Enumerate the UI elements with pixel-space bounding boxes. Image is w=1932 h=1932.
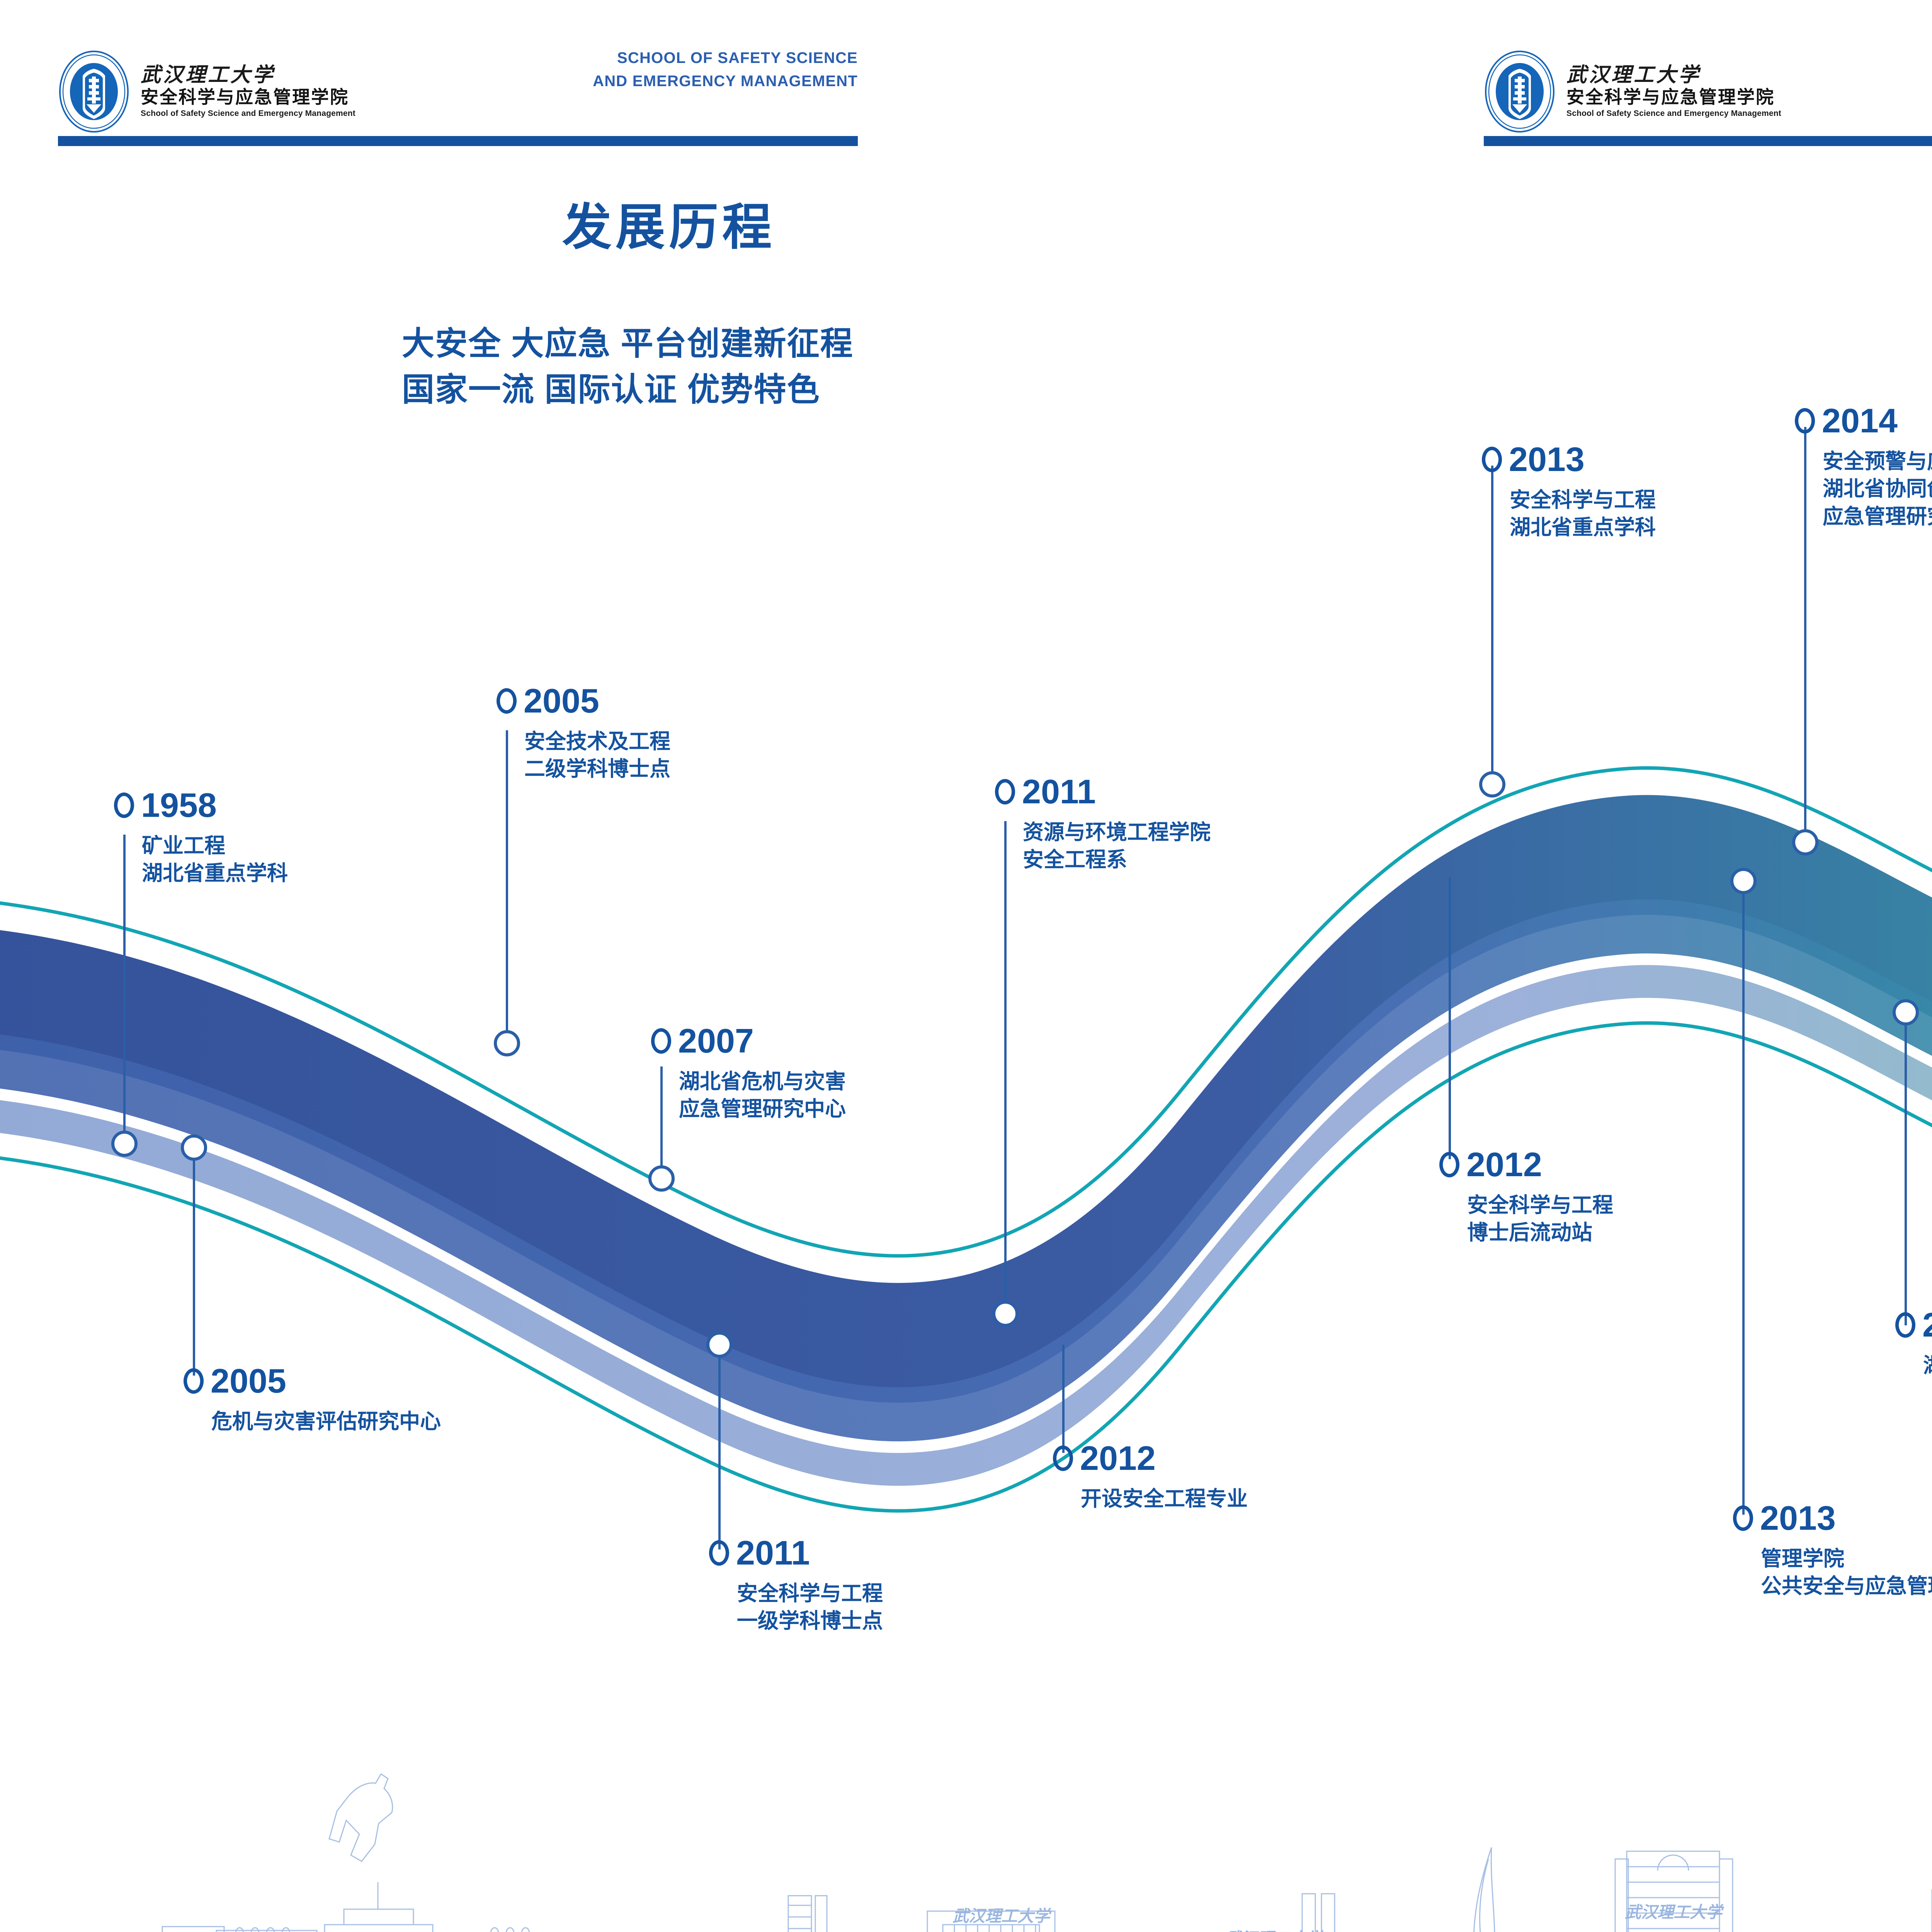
timeline-marker-icon bbox=[184, 1368, 204, 1394]
school-name-en-right: School of Safety Science and Emergency M… bbox=[1566, 109, 1781, 118]
timeline-desc-line: 开设安全工程专业 bbox=[1081, 1485, 1248, 1513]
timeline-year: 2014 bbox=[1822, 404, 1898, 438]
subtitle-line-2: 国家一流 国际认证 优势特色 bbox=[402, 367, 854, 413]
timeline-desc-line: 矿业工程 bbox=[142, 832, 288, 860]
timeline-year: 2012 bbox=[1080, 1441, 1156, 1475]
page-subtitle: 大安全 大应急 平台创建新征程 国家一流 国际认证 优势特色 bbox=[402, 321, 854, 413]
school-seal-icon-right bbox=[1484, 50, 1556, 133]
timeline-marker-icon bbox=[114, 793, 134, 818]
timeline-desc-line: 安全技术及工程 bbox=[524, 728, 670, 755]
header-rule-left bbox=[58, 136, 858, 146]
logo-block-right: 武汉理工大学 安全科学与应急管理学院 School of Safety Scie… bbox=[1484, 50, 1781, 133]
timeline-item-2011-resources-school[interactable]: 2011 资源与环境工程学院 安全工程系 bbox=[995, 775, 1211, 874]
timeline-item-1958-mining[interactable]: 1958 矿业工程 湖北省重点学科 bbox=[114, 788, 288, 888]
timeline-year: 2011 bbox=[736, 1536, 810, 1570]
timeline-desc-line: 安全工程系 bbox=[1023, 846, 1211, 874]
timeline-marker-icon bbox=[1439, 1152, 1459, 1177]
skyline-caption-a: 武汉理工大学 bbox=[952, 1907, 1052, 1925]
page-title: 发展历程 bbox=[562, 203, 776, 252]
timeline-marker-icon bbox=[709, 1540, 729, 1566]
timeline-item-2014-collab-center[interactable]: 2014 安全预警与应急联动技术 湖北省协同创新中心、中国 应急管理研究中心 bbox=[1795, 404, 1932, 531]
timeline-desc-line: 安全科学与工程 bbox=[737, 1580, 883, 1607]
timeline-marker-icon bbox=[651, 1028, 671, 1054]
timeline-desc-line: 应急管理研究中心 bbox=[679, 1095, 846, 1123]
timeline-desc-line: 湖北省重点学科 bbox=[142, 860, 288, 887]
timeline-desc-line: 管理学院 bbox=[1761, 1545, 1932, 1573]
timeline-marker-icon bbox=[1895, 1312, 1915, 1338]
timeline-desc-line: 安全科学与工程 bbox=[1467, 1192, 1613, 1219]
timeline-year: 2013 bbox=[1509, 442, 1585, 476]
timeline-marker-icon bbox=[497, 688, 517, 714]
header-left: 武汉理工大学 安全科学与应急管理学院 School of Safety Scie… bbox=[58, 0, 858, 166]
university-name-cn: 武汉理工大学 bbox=[141, 65, 355, 85]
timeline-year: 2005 bbox=[211, 1364, 286, 1398]
header-right: 武汉理工大学 安全科学与应急管理学院 School of Safety Scie… bbox=[1484, 0, 1932, 166]
timeline-desc-line: 湖北省协同创新中心、中国 bbox=[1823, 475, 1932, 503]
timeline-marker-icon bbox=[1795, 408, 1815, 434]
timeline-year: 2018 bbox=[1922, 1308, 1932, 1342]
timeline-desc-line: 安全预警与应急联动技术 bbox=[1823, 448, 1932, 475]
timeline-desc-line: 应急管理研究中心 bbox=[1823, 503, 1932, 531]
school-name-cn-right: 安全科学与应急管理学院 bbox=[1566, 88, 1781, 106]
logo-block-left: 武汉理工大学 安全科学与应急管理学院 School of Safety Scie… bbox=[58, 50, 355, 133]
ribbon-band-main bbox=[0, 483, 1932, 1403]
timeline-desc-line: 二级学科博士点 bbox=[524, 755, 670, 783]
subtitle-line-1: 大安全 大应急 平台创建新征程 bbox=[402, 321, 854, 367]
timeline-desc-line: 安全科学与工程 bbox=[1510, 486, 1656, 514]
banner-en-line1: SCHOOL OF SAFETY SCIENCE bbox=[593, 46, 858, 70]
timeline-marker-icon bbox=[1482, 447, 1502, 472]
timeline-item-2007-hubei-crisis[interactable]: 2007 湖北省危机与灾害 应急管理研究中心 bbox=[651, 1024, 846, 1123]
school-name-en: School of Safety Science and Emergency M… bbox=[141, 109, 355, 118]
timeline-year: 1958 bbox=[141, 788, 217, 822]
skyline-caption-c: 武汉理工大学 bbox=[1225, 1930, 1324, 1932]
timeline-marker-icon bbox=[1733, 1505, 1753, 1531]
timeline-desc-line: 资源与环境工程学院 bbox=[1023, 819, 1211, 846]
ribbon-band-pale bbox=[0, 653, 1932, 1486]
timeline-item-2011-first-level-phd[interactable]: 2011 安全科学与工程 一级学科博士点 bbox=[709, 1536, 883, 1635]
timeline-item-2013-mgmt-school[interactable]: 2013 管理学院 公共安全与应急管理系 bbox=[1733, 1501, 1932, 1600]
timeline-desc-line: 一级学科博士点 bbox=[737, 1607, 883, 1635]
banner-en-line2: AND EMERGENCY MANAGEMENT bbox=[593, 70, 858, 93]
school-name-cn: 安全科学与应急管理学院 bbox=[141, 88, 355, 106]
ribbon-outline-teal bbox=[0, 456, 1932, 1256]
timeline-item-2005-safety-tech[interactable]: 2005 安全技术及工程 二级学科博士点 bbox=[497, 684, 670, 783]
timeline-desc-line: 湖北省重点学科 bbox=[1510, 514, 1656, 541]
timeline-year: 2007 bbox=[678, 1024, 754, 1058]
timeline-desc-line: 湖北创新发展研究院 bbox=[1923, 1352, 1932, 1379]
timeline-desc-line: 危机与灾害评估研究中心 bbox=[211, 1408, 441, 1435]
timeline-item-2012-safety-major[interactable]: 2012 开设安全工程专业 bbox=[1053, 1441, 1248, 1513]
school-seal-icon bbox=[58, 50, 130, 133]
timeline-item-2005-crisis-center[interactable]: 2005 危机与灾害评估研究中心 bbox=[184, 1364, 441, 1435]
timeline-item-2013-hubei-key[interactable]: 2013 安全科学与工程 湖北省重点学科 bbox=[1482, 442, 1656, 542]
campus-skyline-illustration: 武汉理工大学 武汉理工大学 武汉理工大学 武汉理工大学 bbox=[0, 1735, 1932, 1932]
timeline-desc-line: 公共安全与应急管理系 bbox=[1761, 1573, 1932, 1600]
timeline-item-2018-hubei-innovation[interactable]: 2018 湖北创新发展研究院 bbox=[1895, 1308, 1932, 1379]
timeline-year: 2012 bbox=[1466, 1148, 1542, 1182]
timeline-marker-icon bbox=[1053, 1446, 1073, 1471]
timeline-item-2012-postdoc[interactable]: 2012 安全科学与工程 博士后流动站 bbox=[1439, 1148, 1613, 1247]
timeline-desc-line: 博士后流动站 bbox=[1467, 1219, 1613, 1247]
timeline-marker-icon bbox=[995, 779, 1015, 804]
header-rule-right bbox=[1484, 136, 1932, 146]
timeline-wave-ribbon bbox=[0, 0, 1932, 1932]
ribbon-band-steel bbox=[0, 587, 1932, 1441]
skyline-caption-b: 武汉理工大学 bbox=[1625, 1903, 1724, 1922]
university-name-cn-right: 武汉理工大学 bbox=[1566, 65, 1781, 85]
timeline-year: 2013 bbox=[1760, 1501, 1836, 1535]
header-banner-en-left: SCHOOL OF SAFETY SCIENCE AND EMERGENCY M… bbox=[593, 46, 858, 93]
timeline-year: 2011 bbox=[1022, 775, 1096, 809]
timeline-desc-line: 湖北省危机与灾害 bbox=[679, 1068, 846, 1095]
timeline-year: 2005 bbox=[524, 684, 599, 718]
